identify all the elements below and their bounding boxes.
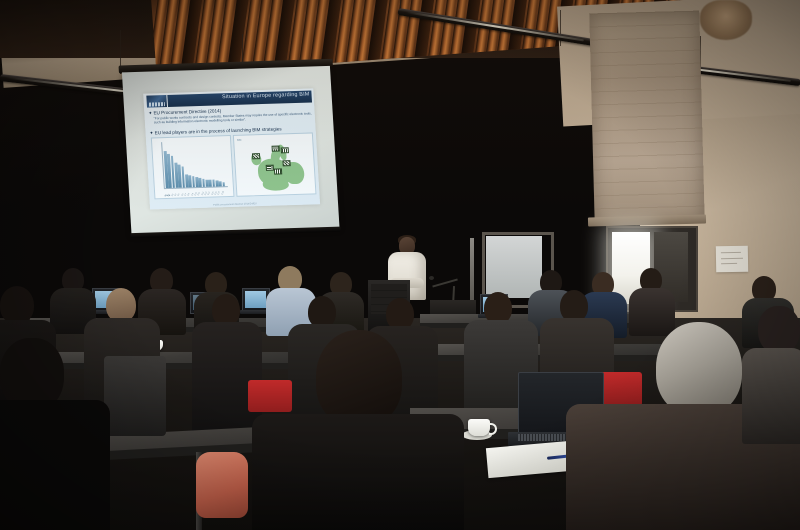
coffee-cup[interactable] — [468, 419, 490, 436]
chair-red[interactable] — [248, 380, 292, 412]
roller-blind[interactable] — [589, 11, 705, 226]
europe-map-graphic — [240, 142, 309, 192]
conference-room-photo: Situation in Europe regarding BIM ✦ EU P… — [0, 0, 800, 530]
backpack[interactable] — [196, 452, 248, 518]
floor-lamp-pole — [470, 238, 474, 308]
chart-bar-label: C5 — [178, 193, 181, 196]
chart-bars: C1C2C3C4C5C6C7C8C9C10C11C12C13C14C15C16C… — [152, 136, 230, 138]
chart-bar-label: C18 — [221, 191, 224, 195]
person-head — [0, 286, 34, 324]
chart-bar — [222, 182, 225, 186]
slide-europe-map: BIM — [233, 132, 317, 196]
person-body — [0, 400, 110, 530]
mid-window-pane — [486, 236, 542, 298]
notice-sheet — [716, 246, 748, 273]
person-head — [656, 322, 742, 416]
chart-legend: ■ ■ ■ — [165, 194, 170, 196]
microphone-head-icon — [429, 276, 434, 280]
screen-surface: Situation in Europe regarding BIM ✦ EU P… — [122, 66, 340, 234]
person-body — [742, 348, 800, 444]
map-label: BIM — [237, 139, 241, 142]
organization-logo-icon — [146, 95, 167, 108]
person-body — [629, 288, 675, 336]
presentation-slide: Situation in Europe regarding BIM ✦ EU P… — [143, 88, 320, 209]
person-body — [192, 322, 262, 434]
slide-bar-chart: C1C2C3C4C5C6C7C8C9C10C11C12C13C14C15C16C… — [151, 135, 235, 199]
slide-footer: Public procurement directive 2014/24/EU — [150, 200, 320, 208]
person-head-bald — [106, 288, 136, 322]
person-head — [316, 330, 402, 426]
person-head — [758, 306, 800, 354]
projector-screen: Situation in Europe regarding BIM ✦ EU P… — [118, 59, 343, 251]
wall-ornament — [700, 0, 752, 40]
person-body — [252, 414, 464, 530]
chart-bar-label: C8 — [188, 193, 191, 196]
chair-dark[interactable] — [104, 356, 166, 436]
